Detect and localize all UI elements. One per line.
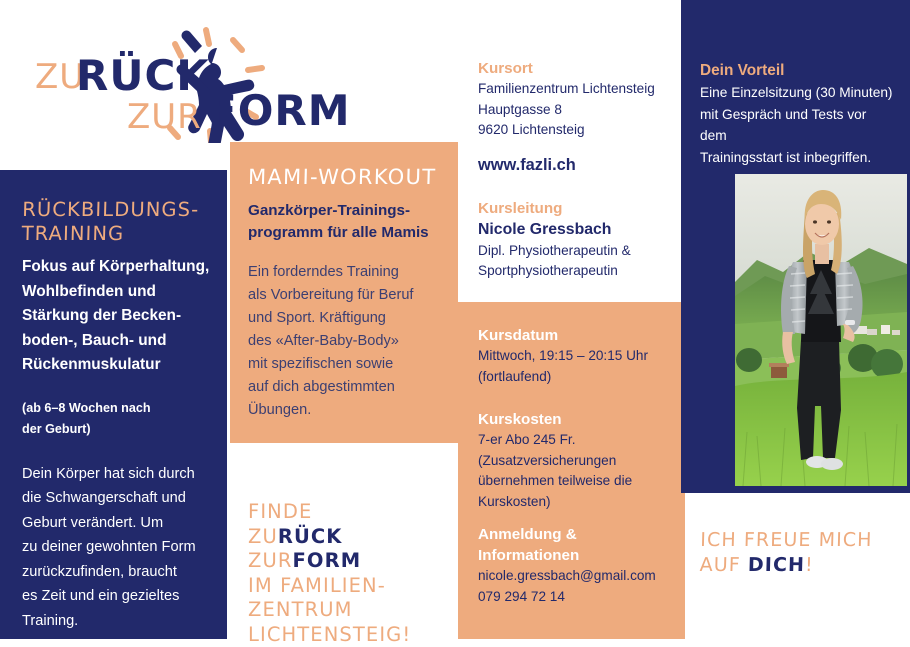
svg-text:ZUR: ZUR — [127, 97, 202, 137]
cta-line-1: FINDE — [248, 500, 453, 525]
website-link[interactable]: www.fazli.ch — [478, 154, 678, 176]
left-body-text: Dein Körper hat sich durch die Schwanger… — [22, 462, 222, 634]
right-cta-line-1: ICH FREUE MICH — [700, 528, 901, 553]
spacer — [478, 176, 678, 198]
portrait-illustration — [735, 174, 907, 486]
course-schedule-block: Kursdatum Mittwoch, 19:15 – 20:15 Uhr (f… — [478, 325, 678, 512]
cta-zu: ZU — [248, 525, 278, 548]
left-heading: RÜCKBILDUNGS- TRAINING — [21, 198, 222, 246]
cta-line-5: LICHTENSTEIG! — [248, 623, 453, 647]
cta-line-3: IM FAMILIEN- — [248, 574, 453, 599]
kursort-value: Familienzentrum Lichtensteig Hauptgasse … — [478, 79, 678, 141]
brand-logo: ZU RÜCK ZUR FORM — [20, 18, 350, 143]
dein-vorteil-section: Dein Vorteil Eine Einzelsitzung (30 Minu… — [700, 60, 896, 168]
cta-form: FORM — [292, 549, 361, 572]
mami-workout-subheading: Ganzkörper-Trainings- programm für alle … — [248, 200, 448, 243]
cta-line-4: ZENTRUM — [248, 598, 453, 623]
anmeldung-label: Anmeldung & Informationen — [478, 524, 683, 566]
dein-vorteil-body: Eine Einzelsitzung (30 Minuten) mit Gesp… — [700, 82, 896, 168]
mami-workout-section: MAMI-WORKOUT Ganzkörper-Trainings- progr… — [248, 164, 448, 422]
rueckbildung-section: RÜCKBILDUNGS- TRAINING Fokus auf Körperh… — [22, 198, 222, 633]
kurskosten-value: 7-er Abo 245 Fr. (Zusatzversicherungen ü… — [478, 430, 678, 512]
spacer — [478, 141, 678, 154]
mami-workout-heading: MAMI-WORKOUT — [248, 164, 449, 190]
kurskosten-label: Kurskosten — [478, 409, 678, 430]
svg-text:RÜCK: RÜCK — [76, 50, 210, 100]
left-subheading: Fokus auf Körperhaltung, Wohlbefinden un… — [22, 255, 222, 378]
logo-artwork: ZU RÜCK ZUR FORM — [20, 18, 350, 143]
kursleitung-role: Dipl. Physiotherapeutin & Sportphysiothe… — [478, 241, 678, 282]
kursdatum-label: Kursdatum — [478, 325, 678, 346]
trainer-portrait-photo — [735, 174, 907, 486]
kursdatum-value: Mittwoch, 19:15 – 20:15 Uhr (fortlaufend… — [478, 346, 678, 387]
finde-zurueck-cta: FINDE ZURÜCK ZURFORM IM FAMILIEN- ZENTRU… — [248, 500, 453, 647]
cta-rueck: RÜCK — [278, 525, 343, 548]
contact-email[interactable]: nicole.gressbach@gmail.com — [478, 566, 683, 587]
cta-zur: ZUR — [248, 549, 292, 572]
ich-freue-mich-cta: ICH FREUE MICH AUF DICH! — [699, 528, 900, 578]
spacer — [478, 387, 678, 409]
kursleitung-name: Nicole Gressbach — [478, 219, 678, 241]
right-cta-line-2: AUF DICH! — [699, 553, 900, 578]
course-info-column: Kursort Familienzentrum Lichtensteig Hau… — [478, 58, 678, 282]
cta-line-2: ZURÜCK ZURFORM — [248, 525, 453, 574]
contact-phone[interactable]: 079 294 72 14 — [478, 587, 683, 608]
right-cta-dich: DICH — [748, 554, 806, 576]
svg-text:FORM: FORM — [208, 86, 350, 135]
right-cta-auf: AUF — [699, 554, 741, 576]
dein-vorteil-heading: Dein Vorteil — [700, 60, 896, 82]
contact-block: Anmeldung & Informationen nicole.gressba… — [478, 524, 683, 607]
mami-workout-body: Ein forderndes Training als Vorbereitung… — [248, 261, 448, 422]
flyer-page: ZU RÜCK ZUR FORM RÜCKBILDUNGS- TRAINING … — [0, 0, 910, 639]
left-note: (ab 6–8 Wochen nach der Geburt) — [22, 398, 222, 440]
kursort-label: Kursort — [478, 58, 678, 79]
kursleitung-label: Kursleitung — [478, 198, 678, 219]
right-cta-bang: ! — [805, 554, 814, 576]
